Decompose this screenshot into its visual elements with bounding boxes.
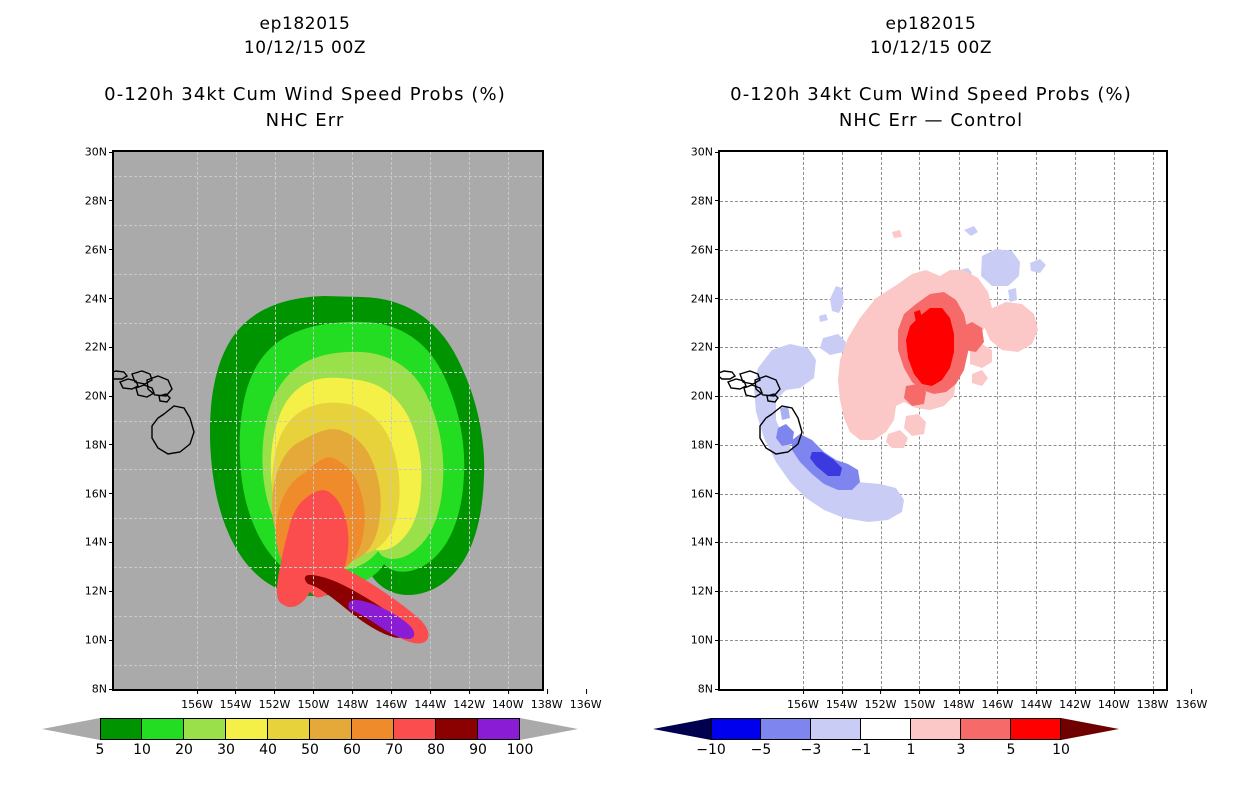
left-datetime: 10/12/15 00Z [0, 38, 610, 58]
xtick-140w: 140W [492, 689, 524, 711]
ytick-22n-r: 22N [691, 341, 720, 354]
xtick-156w: 156W [181, 689, 213, 711]
ytick-30n-r: 30N [691, 146, 720, 159]
right-panel-titles: ep182015 10/12/15 00Z 0-120h 34kt Cum Wi… [626, 14, 1236, 131]
ytick-26n-r: 26N [691, 243, 720, 256]
ytick-20n: 20N [85, 390, 114, 403]
panel-nhc-err: ep182015 10/12/15 00Z 0-120h 34kt Cum Wi… [0, 0, 610, 800]
xtick-148w-r: 148W [943, 689, 975, 711]
xtick-140w-r: 140W [1098, 689, 1130, 711]
map-right-canvas [720, 152, 1166, 689]
coastline-layer-hawaii [114, 152, 542, 689]
ytick-18n: 18N [85, 438, 114, 451]
right-datetime: 10/12/15 00Z [626, 38, 1236, 58]
colorbar-anomaly-segments [711, 718, 1061, 740]
colorbar-segment-7 [394, 718, 436, 740]
colorbar-segment-5 [961, 718, 1011, 740]
colorbar-segment-4 [268, 718, 310, 740]
xtick-154w: 154W [220, 689, 252, 711]
xtick-136w: 136W [570, 689, 602, 711]
xtick-144w: 144W [414, 689, 446, 711]
ytick-24n-r: 24N [691, 292, 720, 305]
left-subtitle: NHC Err [0, 110, 610, 131]
xtick-152w: 152W [259, 689, 291, 711]
ytick-10n: 10N [85, 634, 114, 647]
colorbar-segment-6 [352, 718, 394, 740]
ytick-26n: 26N [85, 243, 114, 256]
xtick-156w-r: 156W [787, 689, 819, 711]
figure-root: ep182015 10/12/15 00Z 0-120h 34kt Cum Wi… [0, 0, 1236, 800]
xtick-150w: 150W [298, 689, 330, 711]
colorbar-tick-labels: 5102030405060708090100 [100, 742, 520, 762]
ytick-16n-r: 16N [691, 487, 720, 500]
ytick-30n: 30N [85, 146, 114, 159]
colorbar-segments [100, 718, 520, 740]
colorbar-segment-1 [142, 718, 184, 740]
colorbar-label-7: 10 [1052, 742, 1070, 758]
xtick-150w-r: 150W [903, 689, 935, 711]
ytick-28n: 28N [85, 194, 114, 207]
colorbar-anomaly-high-cap-icon [1061, 718, 1119, 740]
colorbar-label-7: 70 [385, 742, 403, 758]
ytick-14n: 14N [85, 536, 114, 549]
xtick-142w: 142W [453, 689, 485, 711]
colorbar-segment-9 [478, 718, 520, 740]
colorbar-segment-4 [911, 718, 961, 740]
colorbar-label-8: 80 [427, 742, 445, 758]
xtick-142w-r: 142W [1059, 689, 1091, 711]
colorbar-segment-2 [811, 718, 861, 740]
colorbar-high-cap-icon [520, 718, 578, 740]
colorbar-low-cap-icon [42, 718, 100, 740]
ytick-10n-r: 10N [691, 634, 720, 647]
ytick-22n: 22N [85, 341, 114, 354]
map-nhc-err[interactable]: 30N 28N 26N 24N 22N 20N 18N 16N 14N 12N … [112, 150, 544, 691]
ytick-24n: 24N [85, 292, 114, 305]
colorbar-label-5: 50 [301, 742, 319, 758]
hawaiian-islands-icon-right [720, 371, 802, 454]
ytick-12n: 12N [85, 585, 114, 598]
map-left-canvas [114, 152, 542, 689]
map-nhc-err-minus-control[interactable]: 30N 28N 26N 24N 22N 20N 18N 16N 14N 12N … [718, 150, 1168, 691]
colorbar-label-0: −10 [696, 742, 726, 758]
colorbar-anomaly-low-cap-icon [653, 718, 711, 740]
xtick-144w-r: 144W [1020, 689, 1052, 711]
xtick-136w-r: 136W [1175, 689, 1207, 711]
ytick-12n-r: 12N [691, 585, 720, 598]
colorbar-label-4: 40 [259, 742, 277, 758]
right-title: 0-120h 34kt Cum Wind Speed Probs (%) [626, 84, 1236, 105]
colorbar-label-3: 30 [217, 742, 235, 758]
ytick-28n-r: 28N [691, 194, 720, 207]
colorbar-segment-1 [761, 718, 811, 740]
colorbar-label-5: 3 [957, 742, 966, 758]
colorbar-label-9: 90 [469, 742, 487, 758]
xtick-138w: 138W [531, 689, 563, 711]
ytick-18n-r: 18N [691, 438, 720, 451]
colorbar-anomaly-tick-labels: −10−5−3−113510 [711, 742, 1061, 762]
colorbar-label-6: 5 [1007, 742, 1016, 758]
colorbar-segment-5 [310, 718, 352, 740]
colorbar-segment-0 [711, 718, 761, 740]
colorbar-label-3: −1 [851, 742, 872, 758]
ytick-8n-r: 8N [698, 683, 720, 696]
xtick-138w-r: 138W [1137, 689, 1169, 711]
colorbar-label-1: 10 [133, 742, 151, 758]
colorbar-label-1: −5 [751, 742, 772, 758]
colorbar-segment-6 [1011, 718, 1061, 740]
ytick-16n: 16N [85, 487, 114, 500]
xtick-154w-r: 154W [826, 689, 858, 711]
hawaiian-islands-icon [114, 371, 194, 454]
ytick-8n: 8N [92, 683, 114, 696]
panel-nhc-err-minus-control: ep182015 10/12/15 00Z 0-120h 34kt Cum Wi… [626, 0, 1236, 800]
colorbar-label-6: 60 [343, 742, 361, 758]
xtick-146w-r: 146W [981, 689, 1013, 711]
colorbar-label-4: 1 [907, 742, 916, 758]
left-storm-id: ep182015 [0, 14, 610, 34]
colorbar-segment-3 [861, 718, 911, 740]
colorbar-segment-2 [184, 718, 226, 740]
ytick-20n-r: 20N [691, 390, 720, 403]
xtick-152w-r: 152W [865, 689, 897, 711]
right-subtitle: NHC Err — Control [626, 110, 1236, 131]
xtick-146w: 146W [375, 689, 407, 711]
ytick-14n-r: 14N [691, 536, 720, 549]
colorbar-segment-3 [226, 718, 268, 740]
coastline-layer-hawaii-right [720, 152, 1166, 689]
colorbar-segment-8 [436, 718, 478, 740]
xtick-148w: 148W [336, 689, 368, 711]
colorbar-label-2: 20 [175, 742, 193, 758]
colorbar-label-0: 5 [96, 742, 105, 758]
left-panel-titles: ep182015 10/12/15 00Z 0-120h 34kt Cum Wi… [0, 14, 610, 131]
right-storm-id: ep182015 [626, 14, 1236, 34]
colorbar-segment-0 [100, 718, 142, 740]
colorbar-label-2: −3 [801, 742, 822, 758]
left-title: 0-120h 34kt Cum Wind Speed Probs (%) [0, 84, 610, 105]
colorbar-label-10: 100 [507, 742, 534, 758]
